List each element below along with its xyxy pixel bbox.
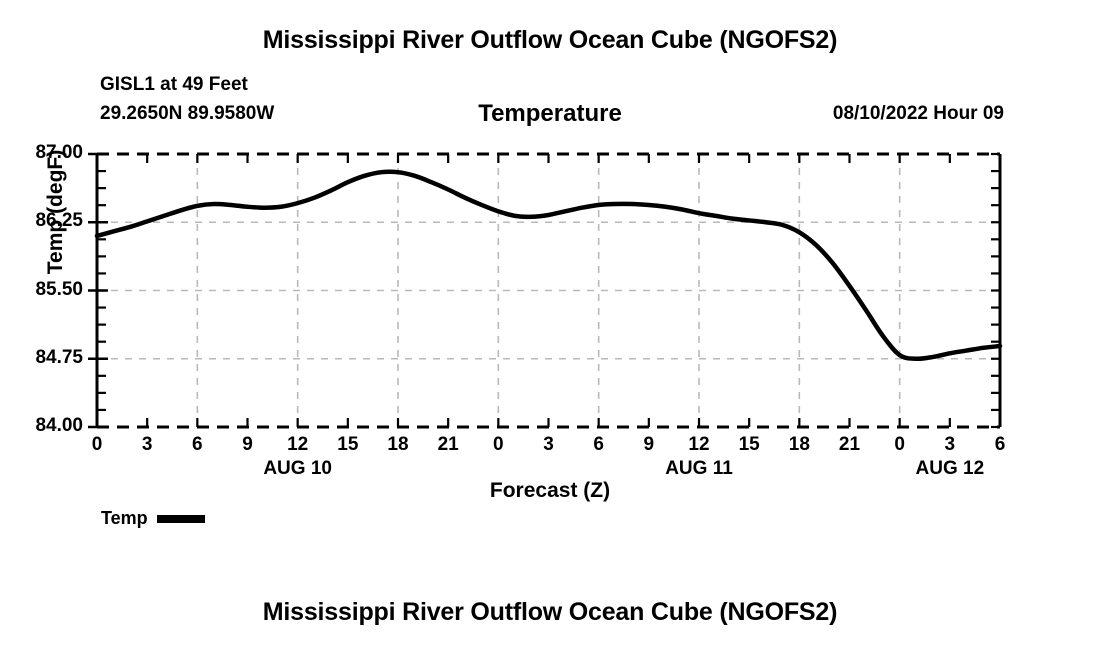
- x-tick-label: 15: [729, 434, 769, 456]
- x-tick-label: 18: [779, 434, 819, 456]
- plot-area: Temp (degF) Forecast (Z) 84.0084.7585.50…: [0, 0, 1100, 560]
- x-tick-label: 0: [880, 434, 920, 456]
- day-label: AUG 12: [870, 458, 1030, 480]
- x-tick-label: 9: [629, 434, 669, 456]
- x-tick-label: 21: [428, 434, 468, 456]
- x-axis-label: Forecast (Z): [0, 479, 1100, 503]
- bottom-title: Mississippi River Outflow Ocean Cube (NG…: [0, 598, 1100, 627]
- x-tick-label: 0: [478, 434, 518, 456]
- day-label: AUG 10: [218, 458, 378, 480]
- y-tick-label: 85.50: [0, 279, 83, 301]
- x-tick-label: 12: [679, 434, 719, 456]
- day-label: AUG 11: [619, 458, 779, 480]
- y-tick-label: 84.75: [0, 347, 83, 369]
- x-tick-label: 6: [177, 434, 217, 456]
- x-tick-label: 21: [830, 434, 870, 456]
- gridlines: [97, 154, 1000, 427]
- x-tick-label: 6: [579, 434, 619, 456]
- legend-label-temp: Temp: [101, 508, 148, 529]
- legend-swatch-temp: [157, 515, 205, 523]
- x-tick-label: 18: [378, 434, 418, 456]
- x-tick-label: 3: [127, 434, 167, 456]
- x-tick-label: 3: [529, 434, 569, 456]
- legend: Temp: [101, 508, 205, 529]
- y-tick-label: 87.00: [0, 142, 83, 164]
- x-tick-label: 9: [228, 434, 268, 456]
- x-tick-label: 15: [328, 434, 368, 456]
- x-tick-label: 3: [930, 434, 970, 456]
- data-series: [97, 172, 1000, 359]
- x-tick-label: 12: [278, 434, 318, 456]
- x-tick-label: 6: [980, 434, 1020, 456]
- series-line-0: [97, 172, 1000, 359]
- chart-page: Mississippi River Outflow Ocean Cube (NG…: [0, 0, 1100, 650]
- y-tick-label: 84.00: [0, 415, 83, 437]
- y-tick-label: 86.25: [0, 210, 83, 232]
- x-tick-label: 0: [77, 434, 117, 456]
